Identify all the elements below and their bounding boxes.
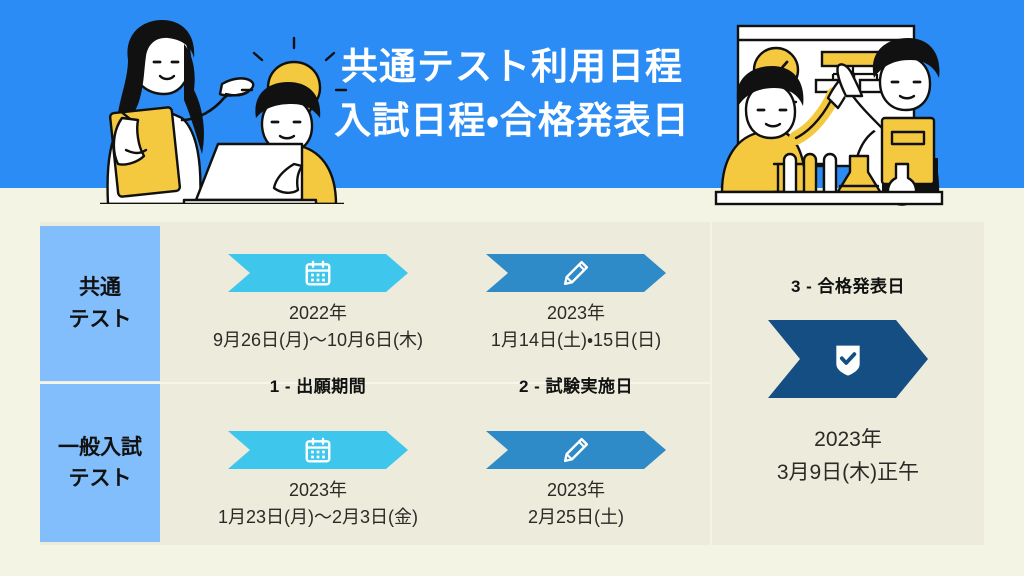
step-label-1: 1 - 出願期間	[188, 372, 448, 397]
date-application-period-general: 2023年 1月23日(月)〜2月3日(金)	[188, 477, 448, 531]
date-exam-general: 2023年 2月25日(土)	[446, 477, 706, 531]
students-high-five-whiteboard-lab-illustration	[700, 14, 956, 206]
banner-application-period-common	[228, 254, 408, 292]
date-line2: 1月23日(月)〜2月3日(金)	[188, 504, 448, 531]
date-line2: 9月26日(月)〜10月6日(木)	[188, 327, 448, 354]
teacher-and-student-at-laptop-illustration	[56, 14, 356, 204]
date-line1: 2023年	[446, 477, 706, 504]
pencil-icon	[561, 435, 591, 465]
infographic-root: 共通テスト利用日程 入試日程・合格発表日	[0, 0, 1024, 576]
date-line1: 2023年	[188, 477, 448, 504]
result-panel-title: 3 - 合格発表日	[716, 272, 980, 297]
banner-application-period-general	[228, 431, 408, 469]
shield-check-icon	[828, 339, 868, 379]
date-exam-common: 2023年 1月14日(土)・15日(日)	[446, 300, 706, 354]
date-line2: 1月14日(土)・15日(日)	[446, 327, 706, 354]
date-line1: 2022年	[188, 300, 448, 327]
panel-vertical-divider	[710, 222, 712, 545]
step-label-2: 2 - 試験実施日	[446, 372, 706, 397]
date-line1: 2023年	[446, 300, 706, 327]
date-line2: 2月25日(土)	[446, 504, 706, 531]
row-label-line2: テスト	[69, 304, 132, 336]
row-label-general-test: 一般入試 テスト	[40, 384, 160, 542]
date-line2: 3月9日(木)正午	[716, 457, 980, 490]
date-line1: 2023年	[716, 424, 980, 457]
header-banner: 共通テスト利用日程 入試日程・合格発表日	[0, 0, 1024, 188]
row-label-line1: 一般入試	[58, 432, 142, 464]
calendar-icon	[303, 258, 333, 288]
pencil-icon	[561, 258, 591, 288]
calendar-icon	[303, 435, 333, 465]
banner-exam-date-common	[486, 254, 666, 292]
date-application-period-common: 2022年 9月26日(月)〜10月6日(木)	[188, 300, 448, 354]
date-result-announcement: 2023年 3月9日(木)正午	[716, 424, 980, 489]
row-label-line1: 共通	[69, 272, 132, 304]
row-label-line2: テスト	[58, 463, 142, 495]
row-label-common-test: 共通 テスト	[40, 226, 160, 381]
banner-exam-date-general	[486, 431, 666, 469]
